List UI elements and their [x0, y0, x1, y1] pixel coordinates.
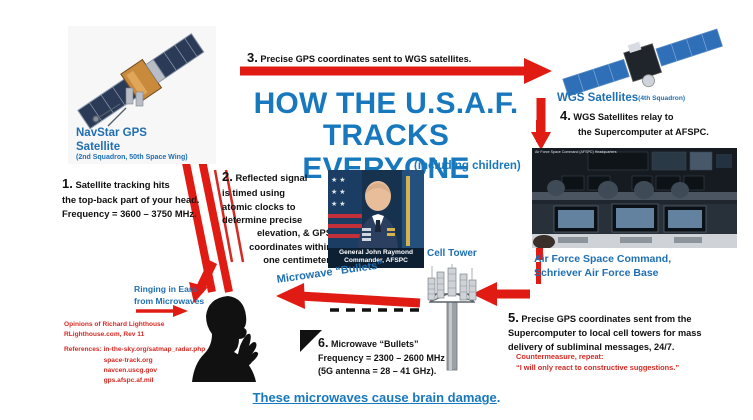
afspc-photo-caption: Air Force Space Command (AFSPC) Headquar…: [535, 150, 617, 155]
svg-text:★ ★: ★ ★: [331, 176, 346, 184]
wgs-label: WGS Satellites(4th Squadron): [557, 92, 685, 104]
step-1-text: 1. Satellite tracking hits the top-back …: [62, 175, 237, 220]
infographic-canvas: NavStar GPS Satellite (2nd Squadron, 50t…: [0, 0, 753, 420]
step-6-text: 6. Microwave “Bullets” Frequency = 2300 …: [318, 334, 478, 378]
step-5-text: 5. Precise GPS coordinates sent from the…: [508, 309, 748, 354]
step-4-number: 4.: [560, 108, 571, 123]
reference-item: in-the-sky.org/satmap_radar.php: [104, 346, 206, 353]
step-3-text: 3. Precise GPS coordinates sent to WGS s…: [247, 50, 537, 65]
bottom-caption-underlined: These microwaves cause brain damage: [253, 390, 497, 405]
countermeasure-line1: Countermeasure, repeat:: [516, 352, 603, 361]
step-2-line4: determine precise: [222, 213, 332, 226]
ringing-line2: from Microwaves: [134, 296, 204, 306]
step-3-number: 3.: [247, 50, 258, 65]
arrow-supercomputer-to-tower: [472, 282, 530, 306]
step-6-number: 6.: [318, 336, 328, 350]
wgs-sublabel: (4th Squadron): [638, 95, 685, 102]
navstar-label-line1: NavStar GPS: [76, 127, 147, 139]
afspc-label-line2: Schriever Air Force Base: [534, 267, 659, 279]
reference-item: gps.afspc.af.mil: [104, 377, 154, 384]
cell-tower-label: Cell Tower: [427, 248, 477, 259]
navstar-label-line2: Satellite: [76, 141, 120, 153]
navstar-label: NavStar GPS Satellite: [76, 126, 216, 154]
countermeasure-line2: “I will only react to constructive sugge…: [516, 363, 679, 372]
step-2-line6: coordinates within: [222, 240, 332, 253]
credits-block: Opinions of Richard Lighthouse RLighthou…: [64, 320, 244, 386]
references-label: References:: [64, 346, 102, 353]
step-5-line2: Supercomputer to local cell towers for m…: [508, 328, 702, 338]
credits-line1: Opinions of Richard Lighthouse: [64, 320, 244, 330]
reference-item: space-track.org: [104, 357, 153, 364]
step-5-line1: Precise GPS coordinates sent from the: [521, 314, 691, 324]
step-4-line1: WGS Satellites relay to: [573, 112, 673, 122]
afspc-label: Air Force Space Command, Schriever Air F…: [534, 253, 749, 280]
step-2-line3: atomic clocks to: [222, 200, 332, 213]
references-block: References: in-the-sky.org/satmap_radar.…: [64, 345, 244, 386]
step-3-body: Precise GPS coordinates sent to WGS sate…: [260, 54, 471, 64]
step-2-line2: is timed using: [222, 186, 332, 199]
bottom-caption: These microwaves cause brain damage.: [0, 390, 753, 405]
step-1-line1: Satellite tracking hits: [75, 179, 169, 190]
step-1-line2: the top-back part of your head.: [62, 194, 200, 205]
afspc-label-line1: Air Force Space Command,: [534, 253, 671, 265]
step-6-line1: Microwave “Bullets”: [331, 339, 419, 349]
step-2-text: 2. Reflected signal is timed using atomi…: [222, 168, 332, 267]
navstar-sublabel: (2nd Squadron, 50th Space Wing): [76, 154, 226, 161]
step-6-line3: (5G antenna = 28 – 41 GHz).: [318, 366, 436, 376]
references-list: in-the-sky.org/satmap_radar.php space-tr…: [104, 345, 206, 386]
step-5-line3: delivery of subliminal messages, 24/7.: [508, 342, 674, 352]
ringing-line1: Ringing in Ears: [134, 284, 197, 294]
step-4-line2: the Supercomputer at AFSPC.: [560, 126, 745, 139]
step-6-line2: Frequency = 2300 – 2600 MHz: [318, 353, 445, 363]
general-caption-line1: General John Raymond: [339, 249, 413, 256]
svg-text:★ ★: ★ ★: [331, 188, 346, 196]
step-1-number: 1.: [62, 176, 73, 191]
step-2-line7: one centimeter.: [222, 253, 332, 266]
wgs-satellite-photo: [556, 34, 741, 92]
step-1-line3: Frequency = 3600 – 3750 MHz.: [62, 208, 197, 219]
afspc-command-center-photo: Air Force Space Command (AFSPC) Headquar…: [532, 148, 737, 248]
title-parenthetical: (including children): [414, 160, 521, 172]
title-line1: HOW THE U.S.A.F.: [254, 87, 519, 120]
step-4-text: 4. WGS Satellites relay to the Supercomp…: [560, 107, 745, 139]
red-tick-wgs: [536, 120, 545, 142]
svg-text:★ ★: ★ ★: [331, 200, 346, 208]
step-2-line1: Reflected signal: [235, 172, 307, 183]
bottom-caption-period: .: [497, 390, 501, 405]
credits-line2: RLighthouse.com, Rev 11: [64, 330, 244, 340]
step-2-number: 2.: [222, 169, 233, 184]
countermeasure-text: Countermeasure, repeat: “I will only rea…: [516, 352, 746, 373]
general-portrait-photo: ★ ★ ★ ★ ★ ★: [328, 170, 424, 268]
wgs-label-text: WGS Satellites: [557, 92, 638, 104]
arrow-tower-to-head: [276, 283, 420, 309]
reference-item: navcen.uscg.gov: [104, 367, 158, 374]
step-2-line5: elevation, & GPS: [222, 226, 332, 239]
ringing-in-ears-label: Ringing in Ears from Microwaves: [134, 284, 229, 307]
step-5-number: 5.: [508, 310, 519, 325]
